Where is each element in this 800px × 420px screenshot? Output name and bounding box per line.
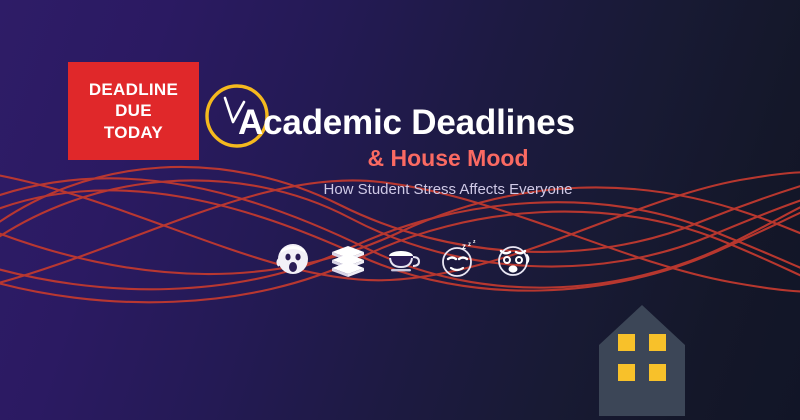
page-title: Academic Deadlines [238,103,575,143]
page-tagline: How Student Stress Affects Everyone [238,181,658,198]
sleeping-face-icon: z z z [437,238,479,280]
poster-canvas: DEADLINE DUE TODAY Academic Deadlines & … [0,0,800,420]
badge-line-1: DEADLINE [89,79,178,100]
deadline-badge: DEADLINE DUE TODAY [68,62,199,160]
svg-text:z: z [473,239,476,245]
page-subtitle: & House Mood [238,145,658,172]
svg-text:z: z [462,242,466,251]
coffee-cup-icon [382,238,424,280]
badge-line-3: TODAY [104,122,163,143]
house-icon [597,301,687,420]
mood-icon-row: z z z [272,236,534,282]
book-stack-icon [327,238,369,280]
fearful-face-icon [272,238,314,280]
badge-line-2: DUE [115,100,152,121]
svg-text:z: z [468,242,471,248]
anxious-face-icon [492,238,534,280]
